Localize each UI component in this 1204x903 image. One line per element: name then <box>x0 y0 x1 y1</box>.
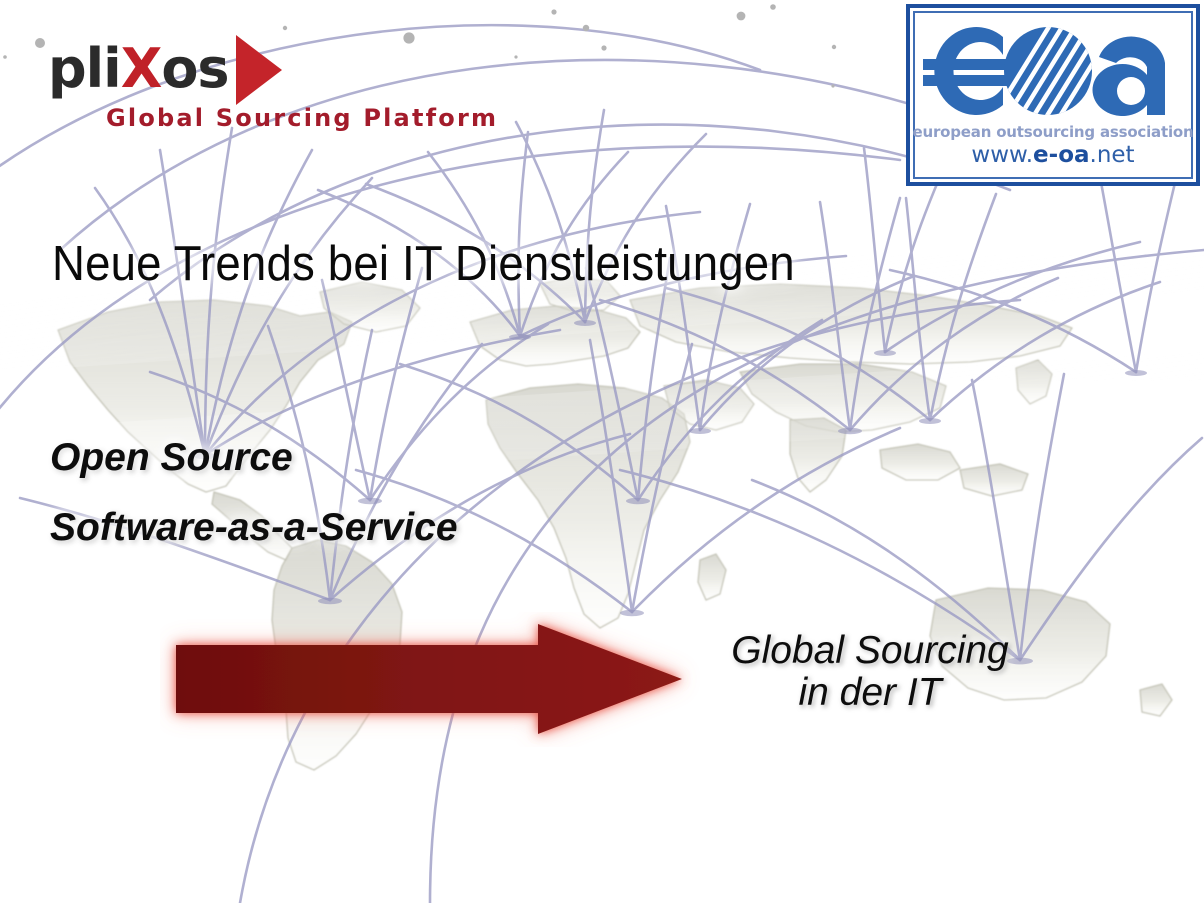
plixos-wordmark: pli X os <box>48 38 498 100</box>
eoa-logo: european outsourcing association www.e-o… <box>906 4 1200 186</box>
eoa-url: www.e-oa.net <box>971 143 1134 167</box>
plixos-logo: pli X os Global Sourcing Platform <box>48 38 498 132</box>
plixos-word-part1: pli <box>48 42 121 96</box>
trend-list: Open Source Software-as-a-Service <box>50 438 458 547</box>
trend-item-saas: Software-as-a-Service <box>50 508 458 547</box>
page-title: Neue Trends bei IT Dienstleistungen <box>52 236 795 292</box>
eoa-logo-inner: european outsourcing association www.e-o… <box>913 11 1193 179</box>
presentation-slide: pli X os Global Sourcing Platform <box>0 0 1204 903</box>
outcome-block: Global Sourcing in der IT <box>700 630 1040 714</box>
eoa-subtitle: european outsourcing association <box>913 125 1194 141</box>
outcome-line-1: Global Sourcing <box>700 630 1040 672</box>
plixos-word-part2: os <box>161 42 228 96</box>
outcome-line-2: in der IT <box>700 672 1040 714</box>
eoa-url-suffix: .net <box>1090 142 1135 168</box>
play-triangle-icon <box>236 35 282 105</box>
eoa-url-prefix: www. <box>971 142 1033 168</box>
plixos-word-x: X <box>121 42 162 96</box>
eoa-url-brand: e-oa <box>1033 142 1089 168</box>
trend-item-open-source: Open Source <box>50 438 458 477</box>
transition-arrow-right <box>160 612 700 747</box>
plixos-tagline: Global Sourcing Platform <box>106 104 498 132</box>
eoa-euro-o-a-mark <box>917 17 1189 125</box>
